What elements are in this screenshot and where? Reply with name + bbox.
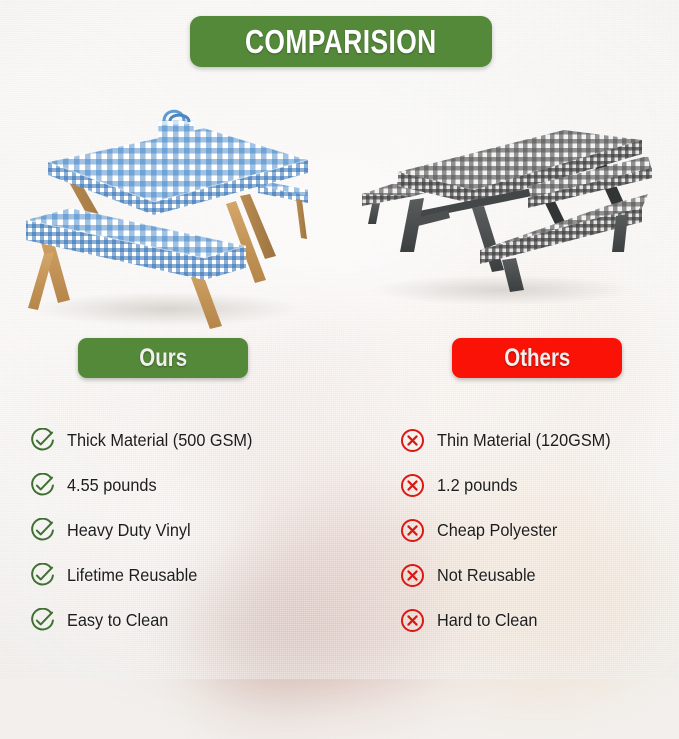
feature-label: Lifetime Reusable (67, 565, 197, 586)
feature-row: Lifetime Reusable (30, 553, 330, 598)
feature-label: Cheap Polyester (437, 520, 557, 541)
feature-label: Heavy Duty Vinyl (67, 520, 191, 541)
check-circle-icon (30, 473, 55, 498)
check-circle-icon (30, 518, 55, 543)
feature-label: 4.55 pounds (67, 475, 157, 496)
tote-bag (158, 111, 194, 174)
cross-circle-icon (400, 473, 425, 498)
column-badge-others-label: Others (504, 344, 570, 373)
feature-row: Hard to Clean (400, 598, 679, 643)
feature-row: Cheap Polyester (400, 508, 679, 553)
cross-circle-icon (400, 608, 425, 633)
feature-label: Not Reusable (437, 565, 536, 586)
product-image-ours (8, 104, 318, 329)
page-title-badge: COMPARISION (190, 16, 492, 67)
feature-label: Easy to Clean (67, 610, 168, 631)
feature-list-ours: Thick Material (500 GSM) 4.55 pounds Hea… (30, 418, 330, 643)
feature-list-others: Thin Material (120GSM) 1.2 pounds Cheap … (400, 418, 679, 643)
cross-circle-icon (400, 428, 425, 453)
feature-row: Heavy Duty Vinyl (30, 508, 330, 553)
feature-row: Not Reusable (400, 553, 679, 598)
check-circle-icon (30, 608, 55, 633)
feature-row: 1.2 pounds (400, 463, 679, 508)
feature-row: Easy to Clean (30, 598, 330, 643)
feature-label: Thick Material (500 GSM) (67, 430, 252, 451)
feature-row: Thick Material (500 GSM) (30, 418, 330, 463)
product-image-others (352, 112, 652, 312)
far-bench (258, 180, 308, 239)
feature-label: Hard to Clean (437, 610, 537, 631)
feature-label: Thin Material (120GSM) (437, 430, 611, 451)
cross-circle-icon (400, 563, 425, 588)
check-circle-icon (30, 428, 55, 453)
cross-circle-icon (400, 518, 425, 543)
column-badge-others: Others (452, 338, 622, 378)
page-title: COMPARISION (245, 23, 437, 61)
check-circle-icon (30, 563, 55, 588)
column-badge-ours: Ours (78, 338, 248, 378)
feature-row: 4.55 pounds (30, 463, 330, 508)
feature-label: 1.2 pounds (437, 475, 518, 496)
feature-row: Thin Material (120GSM) (400, 418, 679, 463)
column-badge-ours-label: Ours (139, 344, 187, 373)
